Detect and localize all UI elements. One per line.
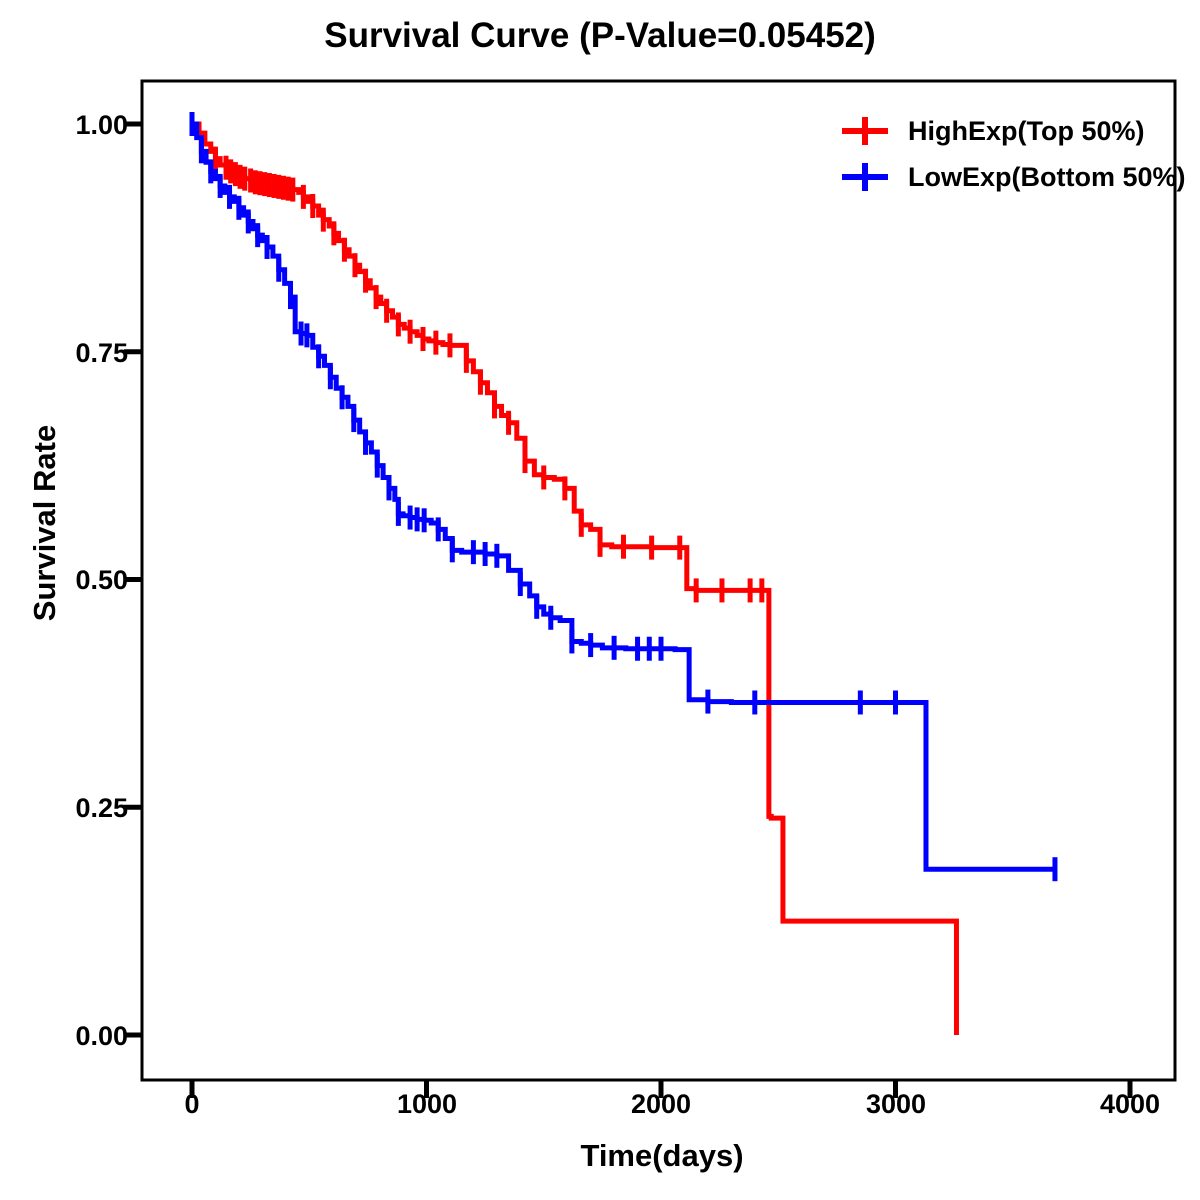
legend-item-lowexp[interactable]: LowExp(Bottom 50%) bbox=[840, 154, 1186, 200]
series-lines bbox=[192, 112, 1055, 1035]
legend-label-lowexp: LowExp(Bottom 50%) bbox=[908, 162, 1186, 193]
legend-item-highexp[interactable]: HighExp(Top 50%) bbox=[840, 108, 1186, 154]
series-highexp bbox=[192, 124, 956, 1035]
legend: HighExp(Top 50%) LowExp(Bottom 50%) bbox=[840, 108, 1186, 200]
plus-marker-icon bbox=[840, 157, 890, 197]
step-line bbox=[192, 124, 1055, 869]
axes-frame bbox=[142, 81, 1175, 1080]
step-line bbox=[192, 124, 956, 1035]
legend-label-highexp: HighExp(Top 50%) bbox=[908, 116, 1145, 147]
axis-ticks bbox=[124, 124, 1130, 1098]
plus-marker-icon bbox=[840, 111, 890, 151]
survival-curve-figure: Survival Curve (P-Value=0.05452) Surviva… bbox=[0, 0, 1200, 1200]
